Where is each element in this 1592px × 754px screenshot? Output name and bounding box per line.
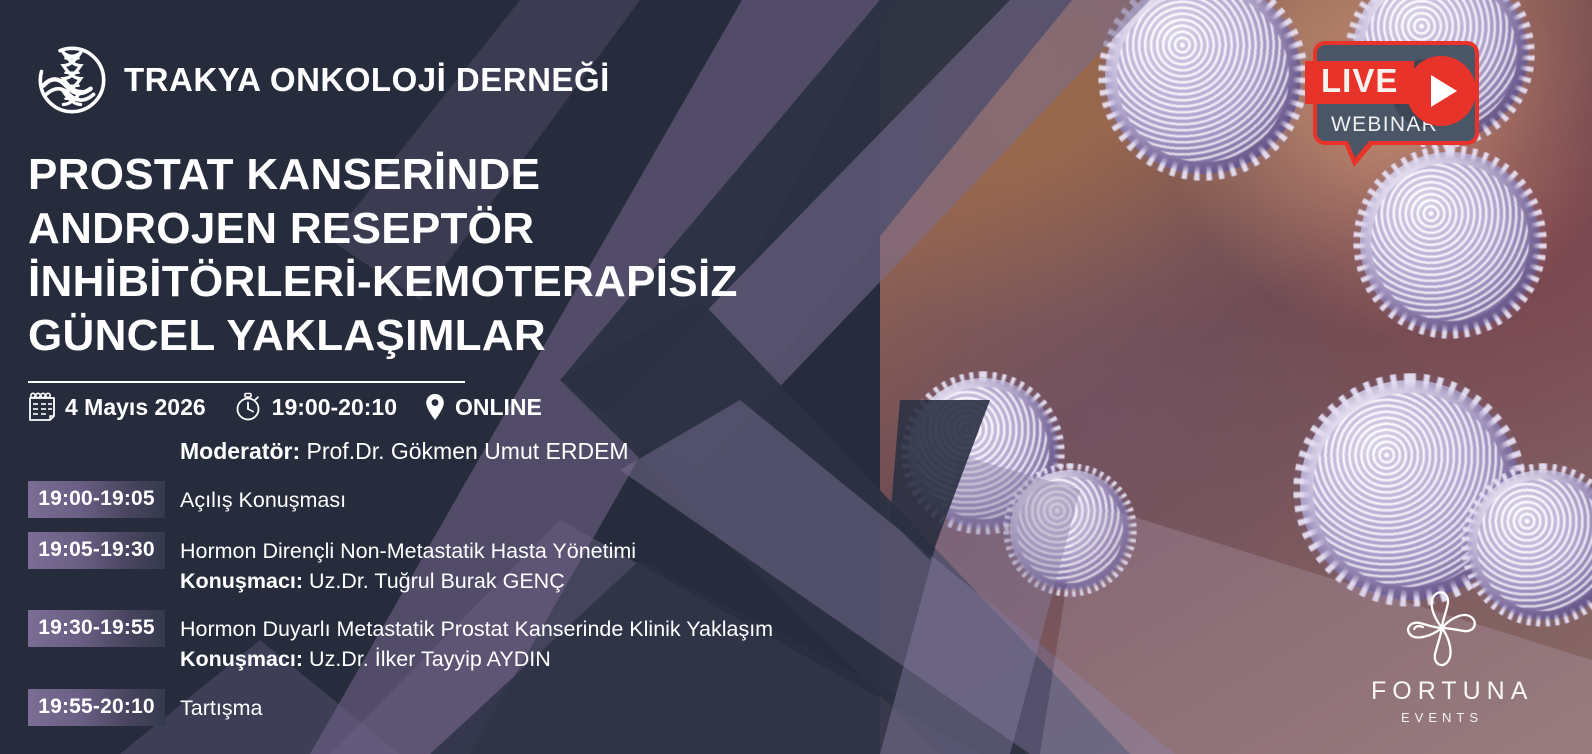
event-time: 19:00-20:10 [272,394,397,421]
speaker-label: Konuşmacı: [180,647,303,671]
schedule-item: 19:55-20:10 Tartışma [28,689,828,726]
four-leaf-clover-icon [1394,583,1490,675]
calendar-icon [28,392,56,422]
event-location: ONLINE [455,394,542,421]
moderator-name: Prof.Dr. Gökmen Umut ERDEM [307,438,629,464]
schedule-detail: Açılış Konuşması [165,481,346,516]
schedule-topic: Hormon Duyarlı Metastatik Prostat Kanser… [180,617,773,641]
stopwatch-icon [233,392,263,422]
event-meta: 4 Mayıs 2026 19:00-20:10 ONLINE [28,392,542,422]
map-pin-icon [424,392,446,422]
schedule-speaker-row: Konuşmacı: Uz.Dr. Tuğrul Burak GENÇ [180,567,636,597]
organization-name: TRAKYA ONKOLOJİ DERNEĞİ [124,61,610,99]
schedule-list: 19:00-19:05 Açılış Konuşması 19:05-19:30… [28,481,828,726]
sponsor-name: FORTUNA [1371,677,1513,706]
speaker-name: Uz.Dr. Tuğrul Burak GENÇ [309,569,565,593]
event-date: 4 Mayıs 2026 [65,394,206,421]
schedule-time-badge: 19:55-20:10 [28,689,165,726]
schedule-time-badge: 19:00-19:05 [28,481,165,518]
title-line-3: İNHİBİTÖRLERİ-KEMOTERAPİSİZ [28,255,818,309]
moderator-row: Moderatör: Prof.Dr. Gökmen Umut ERDEM [180,438,629,465]
title-line-1: PROSTAT KANSERİNDE [28,148,818,202]
schedule-detail: Hormon Duyarlı Metastatik Prostat Kanser… [165,610,773,674]
schedule-detail: Hormon Dirençli Non-Metastatik Hasta Yön… [165,532,636,596]
dna-helix-circle-logo-icon [36,44,108,116]
moderator-label: Moderatör: [180,438,300,464]
webinar-banner: LIVE WEBINAR TRAKYA ONKOLOJİ DERNEĞİ [0,0,1592,754]
schedule-topic: Tartışma [180,696,262,720]
page-title: PROSTAT KANSERİNDE ANDROJEN RESEPTÖR İNH… [28,148,818,363]
schedule-topic: Açılış Konuşması [180,488,346,512]
speaker-label: Konuşmacı: [180,569,303,593]
schedule-topic: Hormon Dirençli Non-Metastatik Hasta Yön… [180,539,636,563]
schedule-item: 19:00-19:05 Açılış Konuşması [28,481,828,518]
schedule-speaker-row: Konuşmacı: Uz.Dr. İlker Tayyip AYDIN [180,645,773,675]
sponsor-logo: FORTUNA EVENTS [1371,583,1513,725]
schedule-time-badge: 19:30-19:55 [28,610,165,647]
speaker-name: Uz.Dr. İlker Tayyip AYDIN [309,647,551,671]
sponsor-subtitle: EVENTS [1371,710,1513,725]
schedule-time-badge: 19:05-19:30 [28,532,165,569]
title-line-4: GÜNCEL YAKLAŞIMLAR [28,309,818,363]
schedule-detail: Tartışma [165,689,262,724]
schedule-item: 19:05-19:30 Hormon Dirençli Non-Metastat… [28,532,828,596]
title-line-2: ANDROJEN RESEPTÖR [28,202,818,256]
organization-logo: TRAKYA ONKOLOJİ DERNEĞİ [36,44,610,116]
title-divider [28,381,465,383]
schedule-item: 19:30-19:55 Hormon Duyarlı Metastatik Pr… [28,610,828,674]
